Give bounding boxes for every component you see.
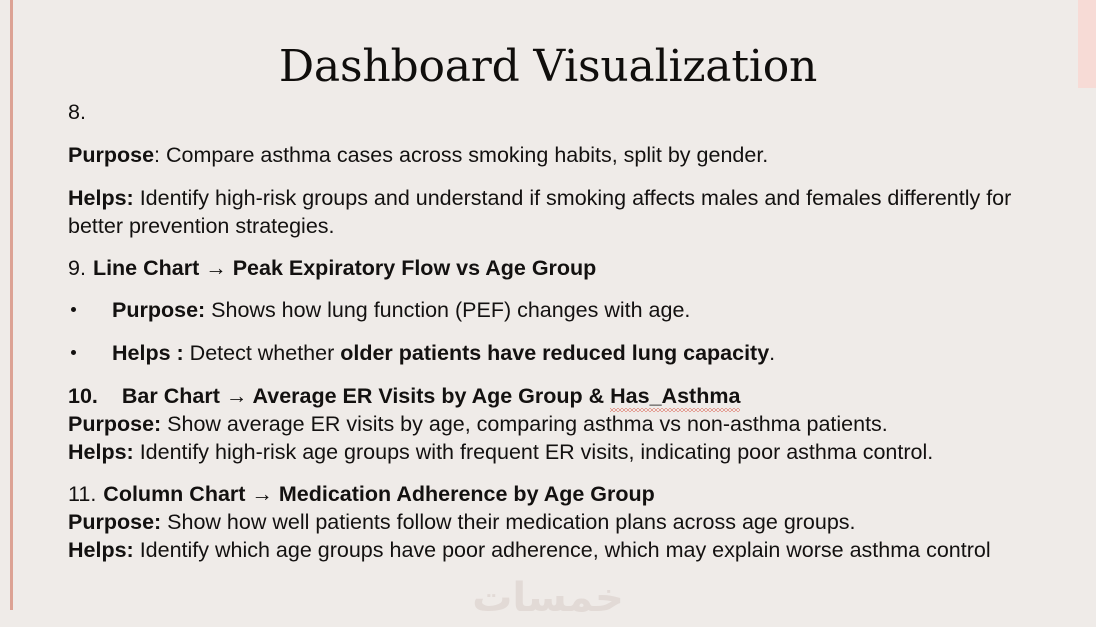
list-item-9-bullet-helps: Helps : Detect whether older patients ha…: [68, 339, 1058, 367]
item-9-title: Line Chart → Peak Expiratory Flow vs Age…: [93, 256, 596, 280]
item-10-title: Bar Chart → Average ER Visits by Age Gro…: [122, 384, 610, 408]
list-item-11-heading: 11.Column Chart → Medication Adherence b…: [68, 480, 1058, 508]
helps-label-9: Helps :: [112, 341, 184, 365]
purpose-label-11: Purpose:: [68, 510, 161, 534]
purpose-text-8: : Compare asthma cases across smoking ha…: [154, 143, 768, 167]
item-11-number: 11.: [68, 482, 96, 506]
list-item-10-heading: 10.Bar Chart → Average ER Visits by Age …: [68, 382, 1058, 410]
purpose-label-9: Purpose:: [112, 298, 205, 322]
purpose-label-10: Purpose:: [68, 412, 161, 436]
list-item-8-helps: Helps: Identify high-risk groups and und…: [68, 184, 1058, 240]
helps-label-11: Helps:: [68, 538, 134, 562]
item-10-title-misspelled-term: Has_Asthma: [610, 382, 740, 410]
bullet-dot-icon: [71, 350, 76, 355]
slide-body: 8. Purpose: Compare asthma cases across …: [68, 98, 1058, 564]
watermark: خمسات: [0, 575, 1096, 621]
item-8-number: 8.: [68, 100, 86, 124]
helps-text-9-pre: Detect whether: [184, 341, 341, 365]
purpose-text-11: Show how well patients follow their medi…: [161, 510, 855, 534]
list-item-8-purpose: Purpose: Compare asthma cases across smo…: [68, 141, 1058, 169]
helps-text-10: Identify high-risk age groups with frequ…: [134, 440, 933, 464]
list-item-8-number: 8.: [68, 98, 1058, 126]
purpose-text-9: Shows how lung function (PEF) changes wi…: [205, 298, 690, 322]
bullet-dot-icon: [71, 307, 76, 312]
helps-label-8: Helps:: [68, 186, 134, 210]
slide-canvas: Dashboard Visualization 8. Purpose: Comp…: [0, 0, 1096, 627]
scrollbar-thumb[interactable]: [1078, 0, 1096, 88]
item-9-number: 9.: [68, 256, 86, 280]
scrollbar-track[interactable]: [1078, 0, 1096, 627]
purpose-label-8: Purpose: [68, 143, 154, 167]
list-item-11-purpose: Purpose: Show how well patients follow t…: [68, 508, 1058, 536]
item-10-number: 10.: [68, 384, 98, 408]
helps-text-11: Identify which age groups have poor adhe…: [134, 538, 991, 562]
list-item-9-heading: 9.Line Chart → Peak Expiratory Flow vs A…: [68, 254, 1058, 282]
helps-text-8: Identify high-risk groups and understand…: [68, 186, 1011, 238]
helps-text-9-post: .: [769, 341, 775, 365]
helps-emphasis-9: older patients have reduced lung capacit…: [340, 341, 769, 365]
list-item-9-bullet-purpose: Purpose: Shows how lung function (PEF) c…: [68, 296, 1058, 324]
list-item-10-purpose: Purpose: Show average ER visits by age, …: [68, 410, 1058, 438]
helps-label-10: Helps:: [68, 440, 134, 464]
list-item-10-helps: Helps: Identify high-risk age groups wit…: [68, 438, 1058, 466]
list-item-11-helps: Helps: Identify which age groups have po…: [68, 536, 1058, 564]
page-title: Dashboard Visualization: [0, 37, 1096, 97]
purpose-text-10: Show average ER visits by age, comparing…: [161, 412, 888, 436]
item-11-title: Column Chart → Medication Adherence by A…: [103, 482, 654, 506]
